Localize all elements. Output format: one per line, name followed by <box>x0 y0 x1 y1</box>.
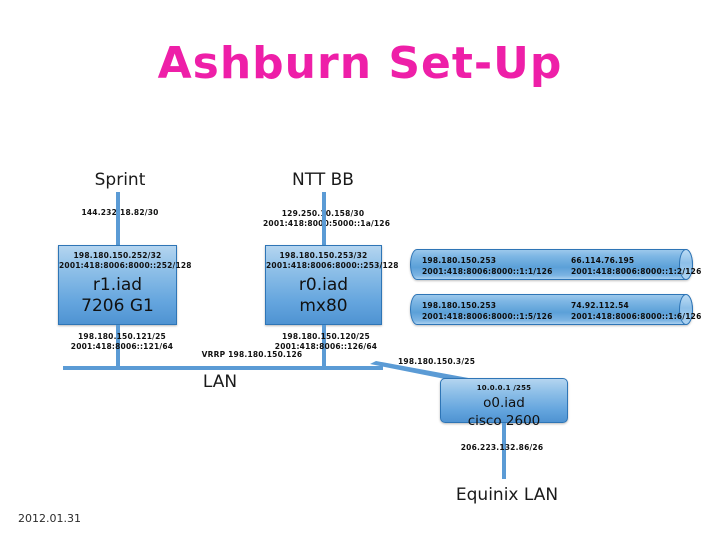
peer1-remote-v6: 2001:418:8006:8000::1:2/126 <box>571 266 702 277</box>
sprint-link-address: 144.232.18.82/30 <box>60 208 180 218</box>
peer1-remote-v4: 66.114.76.195 <box>571 255 634 266</box>
lan-label: LAN <box>155 372 285 392</box>
upstream-label-sprint: Sprint <box>60 170 180 190</box>
peer2-remote-v4: 74.92.112.54 <box>571 300 629 311</box>
peer2-local-v6: 2001:418:8006:8000::1:5/126 <box>422 311 553 322</box>
vrrp-address: VRRP 198.180.150.126 <box>122 350 382 360</box>
peer1-local-v6: 2001:418:8006:8000::1:1/126 <box>422 266 553 277</box>
link-sprint-to-r1 <box>116 192 120 245</box>
peer2-remote-v6: 2001:418:8006:8000::1:6/126 <box>571 311 702 322</box>
page-title: Ashburn Set-Up <box>0 38 720 89</box>
peer2-local-v4: 198.180.150.253 <box>422 300 496 311</box>
r1-model: 7206 G1 <box>59 296 176 317</box>
date-stamp: 2012.01.31 <box>18 512 81 525</box>
r1-lan-address-v4: 198.180.150.121/25 <box>58 332 186 342</box>
upstream-label-ntt: NTT BB <box>263 170 383 190</box>
lan-bus-line <box>63 366 383 370</box>
r0-lan-address-v4: 198.180.150.120/25 <box>262 332 390 342</box>
peer-panel-1[interactable]: 198.180.150.253 2001:418:8006:8000::1:1/… <box>410 249 693 280</box>
router-box-r0[interactable]: 198.180.150.253/32 2001:418:8006:8000::2… <box>265 245 382 325</box>
r1-loopback-v4: 198.180.150.252/32 <box>59 246 176 261</box>
peer1-local-v4: 198.180.150.253 <box>422 255 496 266</box>
router-box-r1[interactable]: 198.180.150.252/32 2001:418:8006:8000::2… <box>58 245 177 325</box>
router-box-o0[interactable]: 10.0.0.1 /255 o0.iad cisco 2600 <box>440 378 568 423</box>
o0-address: 10.0.0.1 /255 <box>441 379 567 393</box>
o0-uplink-address: 198.180.150.3/25 <box>398 357 508 367</box>
r0-hostname: r0.iad <box>266 275 381 296</box>
link-ntt-to-r0 <box>322 192 326 245</box>
r1-hostname: r1.iad <box>59 275 176 296</box>
r1-loopback-v6: 2001:418:8006:8000::252/128 <box>59 261 176 271</box>
slide-canvas: Ashburn Set-Up Sprint 144.232.18.82/30 N… <box>0 0 720 540</box>
r0-loopback-v4: 198.180.150.253/32 <box>266 246 381 261</box>
r0-loopback-v6: 2001:418:8006:8000::253/128 <box>266 261 381 271</box>
o0-hostname: o0.iad <box>441 395 567 411</box>
equinix-lan-label: Equinix LAN <box>432 485 582 505</box>
equinix-link-address: 206.223.132.86/26 <box>442 443 562 453</box>
peer-panel-2[interactable]: 198.180.150.253 2001:418:8006:8000::1:5/… <box>410 294 693 325</box>
r0-model: mx80 <box>266 296 381 317</box>
